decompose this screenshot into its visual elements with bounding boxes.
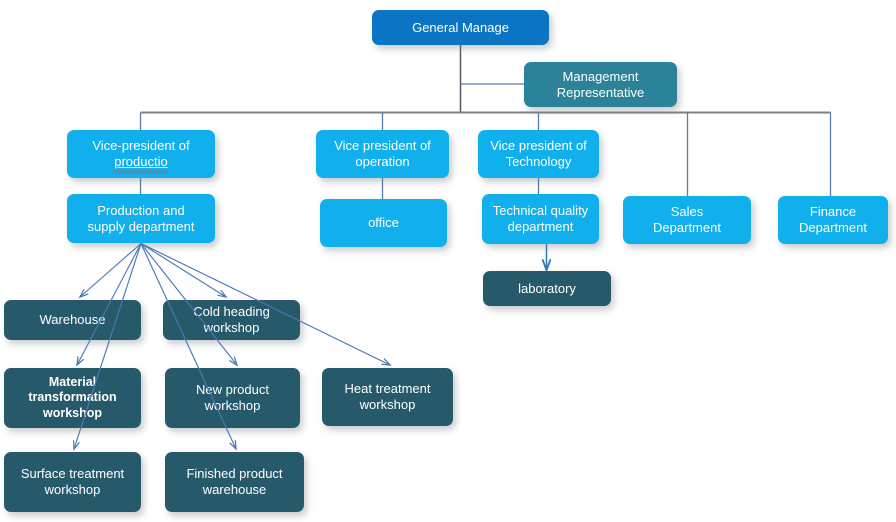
node-vp-production-label-line1: Vice-president of [92, 138, 189, 153]
node-new-product-workshop[interactable]: New product workshop [165, 368, 300, 428]
node-cold-heading-workshop[interactable]: Cold heading workshop [163, 300, 300, 340]
node-sales-department-label: Sales Department [629, 204, 745, 236]
node-material-transformation-workshop-label: Material transformation workshop [10, 375, 135, 421]
node-office-label: office [326, 215, 441, 231]
node-surface-treatment-workshop[interactable]: Surface treatment workshop [4, 452, 141, 512]
arrow-to-cold-heading-workshop [141, 244, 226, 298]
arrow-to-warehouse [80, 244, 141, 298]
node-technical-quality-department[interactable]: Technical quality department [482, 194, 599, 244]
node-vp-production[interactable]: Vice-president ofproductio [67, 130, 215, 178]
node-general-manager[interactable]: General Manage [372, 10, 549, 45]
node-laboratory-label: laboratory [489, 281, 605, 297]
node-management-representative-label: Management Representative [530, 69, 671, 101]
node-vp-production-label-line2: productio [114, 154, 167, 170]
node-finished-product-warehouse-label: Finished product warehouse [171, 466, 298, 498]
node-sales-department[interactable]: Sales Department [623, 196, 751, 244]
node-cold-heading-workshop-label: Cold heading workshop [169, 304, 294, 336]
node-management-representative[interactable]: Management Representative [524, 62, 677, 107]
node-warehouse[interactable]: Warehouse [4, 300, 141, 340]
connector-lines-under [0, 0, 896, 522]
node-laboratory[interactable]: laboratory [483, 271, 611, 306]
node-finance-department-label: Finance Department [784, 204, 882, 236]
connector-lines-over [0, 0, 896, 522]
node-general-manager-label: General Manage [378, 20, 543, 36]
node-office[interactable]: office [320, 199, 447, 247]
node-heat-treatment-workshop-label: Heat treatment workshop [328, 381, 447, 413]
node-warehouse-label: Warehouse [10, 312, 135, 328]
node-material-transformation-workshop[interactable]: Material transformation workshop [4, 368, 141, 428]
node-production-supply-department-label: Production and supply department [73, 203, 209, 235]
node-finished-product-warehouse[interactable]: Finished product warehouse [165, 452, 304, 512]
node-vp-operation[interactable]: Vice president of operation [316, 130, 449, 178]
node-heat-treatment-workshop[interactable]: Heat treatment workshop [322, 368, 453, 426]
node-finance-department[interactable]: Finance Department [778, 196, 888, 244]
node-vp-technology-label: Vice president of Technology [484, 138, 593, 170]
org-chart: General Manage Management Representative… [0, 0, 896, 522]
node-surface-treatment-workshop-label: Surface treatment workshop [10, 466, 135, 498]
node-vp-operation-label: Vice president of operation [322, 138, 443, 170]
node-new-product-workshop-label: New product workshop [171, 382, 294, 414]
node-production-supply-department[interactable]: Production and supply department [67, 194, 215, 243]
node-vp-production-label: Vice-president ofproductio [73, 138, 209, 170]
node-technical-quality-department-label: Technical quality department [488, 203, 593, 235]
node-vp-technology[interactable]: Vice president of Technology [478, 130, 599, 178]
